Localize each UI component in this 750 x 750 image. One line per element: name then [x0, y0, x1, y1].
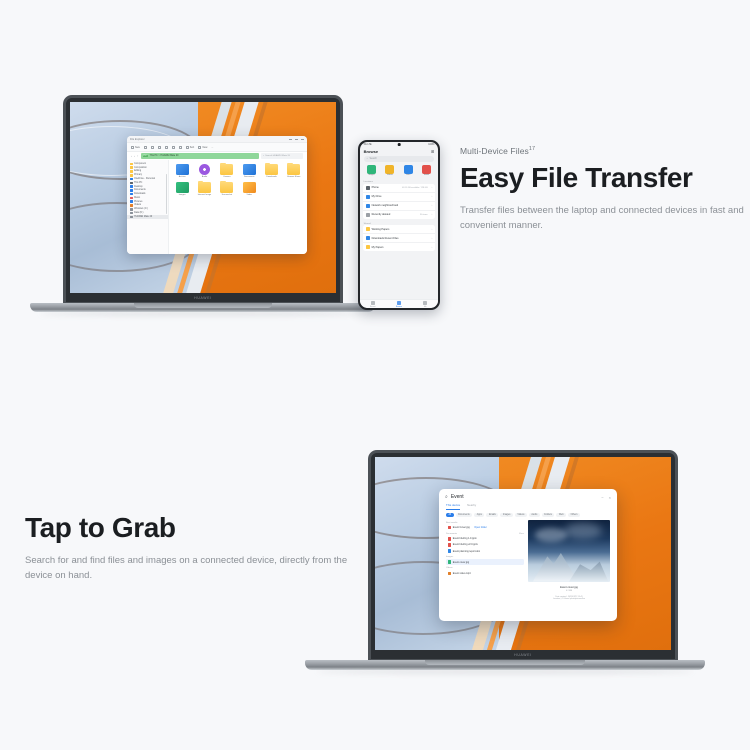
laptop-shadow-2	[317, 669, 693, 674]
address-chip: PC	[143, 155, 148, 157]
explorer-search-input[interactable]: ⌕ Search HUAWEI Mate 20	[261, 153, 303, 159]
result-file-icon	[448, 537, 451, 541]
green-pic-icon	[176, 182, 189, 193]
sidebar-scrollbar[interactable]	[166, 174, 167, 214]
file-grid: ArchiveAudioCameraDocumentsDownloadsHuaw…	[172, 164, 304, 196]
search-filter-chip[interactable]: Documents	[456, 513, 473, 517]
phone-category-row[interactable]: ImagesVideosDocsAudio	[360, 165, 439, 180]
phone-category[interactable]: Videos	[382, 165, 398, 177]
sidebar-item-icon	[130, 182, 133, 185]
phone-bottom-nav[interactable]: RecentBrowseMe	[360, 299, 439, 308]
text-block-tap-to-grab: Tap to Grab Search for and find files an…	[25, 512, 365, 584]
sidebar-item-label: Composition	[134, 167, 147, 169]
blue-doc-icon	[243, 164, 256, 175]
toolbar-view-button[interactable]: View	[198, 146, 207, 149]
sidebar-item-label: Downloads	[134, 193, 145, 195]
search-query-input[interactable]: Event	[451, 494, 464, 500]
explorer-address-row[interactable]: ‹ › ↑ PC This PC > HUAWEI Mate 20 ⌕ Sear…	[127, 152, 307, 160]
file-grid-item[interactable]: Huawei Share	[284, 164, 304, 178]
close-icon[interactable]	[301, 139, 304, 140]
global-search-window[interactable]: ⌕ Event − × This deviceNearby AllDocumen…	[439, 489, 617, 621]
sidebar-item-label: Data (D:)	[134, 212, 143, 214]
search-result-item[interactable]: Event cover.jpg	[446, 559, 524, 565]
search-group-title: Documents	[446, 533, 457, 535]
brand-text: HUAWEI	[514, 653, 532, 657]
category-label: Docs	[406, 174, 410, 176]
search-icon: ⌕	[367, 157, 368, 160]
category-label: Images	[368, 174, 374, 176]
window-titlebar[interactable]: File Explorer	[127, 136, 307, 143]
nav-item-icon	[397, 301, 401, 305]
search-filter-chip[interactable]: Images	[500, 513, 513, 517]
result-file-icon	[448, 572, 451, 576]
phone-list-item[interactable]: Phone48.13 GB available / 128 GB›	[363, 184, 436, 193]
list-item-icon	[366, 204, 370, 208]
folder-icon	[198, 182, 211, 193]
phone-list-item[interactable]: My Papers›	[363, 243, 436, 251]
sidebar-item-icon	[130, 178, 133, 181]
sidebar-item-icon	[130, 216, 133, 219]
close-icon[interactable]: ×	[609, 495, 611, 500]
explorer-content: ArchiveAudioCameraDocumentsDownloadsHuaw…	[169, 160, 307, 254]
cloud-shape	[535, 528, 568, 542]
list-item-icon	[366, 213, 370, 217]
search-result-item[interactable]: Event briefing 1.0.pptx	[446, 536, 524, 542]
laptop-device-2: ⌕ Event − × This deviceNearby AllDocumen…	[305, 450, 705, 675]
phone-header: Browse ⊞	[360, 148, 439, 156]
toolbar-label: View	[202, 146, 207, 149]
search-group-header: Videos	[446, 567, 524, 569]
sidebar-item-icon	[130, 197, 133, 200]
sidebar-item-label: Editing	[134, 170, 141, 172]
phone-screen: 5G LTE 100% Browse ⊞ ⌕ Search ImagesVide…	[360, 142, 439, 309]
preview-image	[528, 520, 610, 582]
sidebar-item-label: Desktop	[134, 186, 142, 188]
folder-icon	[287, 164, 300, 175]
sidebar-item-icon	[130, 200, 133, 203]
sidebar-item-label: HUAWEI Mate 20	[134, 216, 152, 218]
body-text-1: Transfer files between the laptop and co…	[460, 204, 745, 233]
phone-search-input[interactable]: ⌕ Search	[364, 156, 435, 162]
search-icon: ⌕	[263, 155, 264, 157]
mountain-shape	[533, 553, 578, 582]
file-grid-item-label: Audio	[202, 176, 207, 178]
search-tab[interactable]: This device	[446, 503, 460, 510]
phone-nav-item[interactable]: Me	[412, 300, 438, 308]
list-item-label: Downloads Recent Files	[372, 237, 399, 240]
result-file-icon	[448, 549, 451, 553]
search-result-item[interactable]: Event Cover.jpgOpen folder	[446, 525, 524, 531]
laptop-brand-logo-1: HUAWEI	[66, 293, 340, 302]
sidebar-item-icon	[130, 204, 133, 207]
grid-view-icon[interactable]: ⊞	[431, 149, 434, 154]
toolbar-label: ...	[211, 146, 213, 149]
sidebar-item-label: Videos	[134, 204, 141, 206]
list-item-label: Recently deleted	[372, 213, 391, 216]
preview-metadata: Date created : 2021/07/22 15:41 Location…	[553, 596, 585, 602]
phone-nav-item[interactable]: Recent	[360, 300, 386, 308]
mountain-shape	[569, 560, 608, 581]
eyebrow-text: Multi-Device Files	[460, 146, 529, 156]
search-group-more-link[interactable]: More	[519, 533, 524, 535]
open-folder-link[interactable]: Open folder	[474, 526, 487, 529]
plus-icon	[131, 146, 134, 149]
nav-item-label: Browse	[396, 306, 402, 308]
file-grid-item[interactable]: Camera	[217, 164, 237, 178]
view-icon	[198, 146, 201, 149]
orange-play-icon	[243, 182, 256, 193]
forward-icon[interactable]: ›	[134, 154, 135, 158]
search-group-header: Images	[446, 556, 524, 558]
sidebar-item-icon	[130, 212, 133, 215]
sidebar-item-label: This PC	[134, 182, 142, 184]
search-group-title: Images	[446, 556, 453, 558]
result-file-icon	[448, 543, 451, 547]
search-preview-pane: Event cover.jpg 4.2 MB Date created : 20…	[528, 520, 610, 602]
phone-category[interactable]: Images	[364, 165, 380, 177]
chevron-right-icon: ›	[432, 246, 433, 249]
search-group-header: Best results	[446, 522, 524, 524]
file-grid-item[interactable]: Internet Image	[194, 182, 214, 196]
chevron-right-icon: ›	[432, 237, 433, 240]
phone-locations-card[interactable]: Phone48.13 GB available / 128 GB›My Driv…	[363, 184, 436, 219]
phone-device: 5G LTE 100% Browse ⊞ ⌕ Search ImagesVide…	[358, 140, 440, 310]
toolbar-copy-icon[interactable]	[151, 146, 154, 149]
preview-filesize: 4.2 MB	[566, 590, 572, 592]
category-label: Videos	[387, 174, 393, 176]
chevron-right-icon: ›	[432, 228, 433, 231]
text-block-easy-file-transfer: Multi-Device Files17 Easy File Transfer …	[460, 146, 750, 234]
maximize-icon[interactable]	[295, 139, 298, 140]
search-filter-chip[interactable]: Folders	[542, 513, 555, 517]
toolbar-paste-icon[interactable]	[158, 146, 161, 149]
sidebar-item-icon	[130, 185, 133, 188]
sidebar-item-label: Documents	[134, 189, 146, 191]
result-file-name: Event video.mp4	[453, 572, 471, 575]
sidebar-item-icon	[130, 174, 133, 177]
category-icon	[404, 165, 413, 174]
result-file-name: Event Cover.jpg	[453, 526, 470, 529]
search-window-header[interactable]: ⌕ Event − ×	[439, 489, 617, 503]
list-item-icon	[366, 227, 370, 231]
list-item-icon	[366, 245, 370, 249]
minimize-icon[interactable]: −	[601, 495, 603, 500]
file-explorer-window[interactable]: File Explorer New	[127, 136, 307, 254]
nav-item-icon	[423, 301, 427, 305]
list-item-label: Network neighbourhood	[372, 204, 399, 207]
search-results-list[interactable]: Best resultsEvent Cover.jpgOpen folderDo…	[446, 520, 524, 602]
minimize-icon[interactable]	[289, 139, 292, 140]
result-file-name: Event briefing v2.0.pptx	[453, 543, 478, 546]
search-placeholder: Search HUAWEI Mate 20	[265, 155, 290, 157]
blue-doc-icon	[176, 164, 189, 175]
sidebar-item-label: Primary	[134, 174, 142, 176]
list-item-icon	[366, 186, 370, 190]
file-grid-item-label: Images	[179, 194, 186, 196]
preview-meta-line-2: Location | C:\Users\ photo\pictures\hw	[553, 598, 585, 601]
eyebrow-label-1: Multi-Device Files17	[460, 146, 750, 156]
search-filter-chip[interactable]: Emails	[486, 513, 498, 517]
phone-category[interactable]: Audio	[419, 165, 435, 177]
chevron-right-icon: ›	[432, 195, 433, 198]
explorer-sidebar[interactable]: ComponentCompositionEditingPrimaryOneDri…	[127, 160, 169, 254]
address-path: This PC > HUAWEI Mate 20	[150, 155, 179, 157]
phone-page-title: Browse	[364, 149, 378, 154]
file-grid-item-label: Internet Image	[198, 194, 211, 196]
purple-disc-icon	[199, 164, 210, 175]
search-group-header: DocumentsMore	[446, 533, 524, 535]
up-icon[interactable]: ↑	[137, 154, 139, 158]
file-grid-item[interactable]: Screenshot	[217, 182, 237, 196]
file-grid-item-label: Archive	[179, 176, 186, 178]
category-icon	[385, 165, 394, 174]
file-grid-item-label: Video	[247, 194, 252, 196]
laptop-lid-1: File Explorer New	[63, 95, 343, 305]
nav-arrows[interactable]: ‹ › ↑	[131, 154, 139, 158]
headline-2: Tap to Grab	[25, 512, 365, 543]
list-item-label: Phone	[372, 186, 379, 189]
category-icon	[422, 165, 431, 174]
sidebar-item-icon	[130, 163, 133, 166]
search-icon: ⌕	[445, 494, 448, 500]
search-result-item[interactable]: Event planning report.doc	[446, 548, 524, 554]
toolbar-share-icon[interactable]	[172, 146, 175, 149]
preview-filename: Event cover.jpg	[560, 586, 578, 589]
sidebar-item-label: Component	[134, 163, 146, 165]
list-item-label: Working Papers	[372, 228, 390, 231]
list-item-label: My Drive	[372, 195, 382, 198]
result-file-name: Event cover.jpg	[453, 561, 469, 564]
sort-icon	[186, 146, 189, 149]
search-filter-chip[interactable]: Videos	[515, 513, 527, 517]
file-grid-item[interactable]: Downloads	[261, 164, 281, 178]
nav-item-label: Recent	[370, 306, 376, 308]
sidebar-item-label: Pictures	[134, 201, 142, 203]
search-placeholder: Search	[369, 157, 377, 160]
file-grid-item-label: Screenshot	[222, 194, 233, 196]
file-grid-item[interactable]: Documents	[239, 164, 259, 178]
chevron-right-icon: ›	[432, 213, 433, 216]
search-group-title: Videos	[446, 567, 453, 569]
sidebar-item-icon	[130, 189, 133, 192]
result-file-name: Event briefing 1.0.pptx	[453, 537, 477, 540]
cloud-shape	[564, 523, 602, 539]
search-result-item[interactable]: Event video.mp4	[446, 570, 524, 576]
phone-list-item[interactable]: Network neighbourhood›	[363, 202, 436, 211]
laptop-device-1: File Explorer New	[30, 95, 375, 315]
body-text-2: Search for and find files and images on …	[25, 554, 355, 583]
sidebar-item-label: Windows (C:)	[134, 208, 148, 210]
phone-camera-notch	[398, 143, 401, 146]
explorer-body: ComponentCompositionEditingPrimaryOneDri…	[127, 160, 307, 254]
result-file-icon	[448, 526, 451, 530]
nav-item-icon	[371, 301, 375, 305]
file-grid-item-label: Downloads	[266, 176, 276, 178]
toolbar-delete-icon[interactable]	[179, 146, 182, 149]
toolbar-more-button[interactable]: ...	[211, 146, 213, 149]
window-controls[interactable]	[289, 139, 304, 140]
result-file-icon	[448, 560, 451, 564]
file-grid-item[interactable]: Images	[172, 182, 192, 196]
search-results-body: Best resultsEvent Cover.jpgOpen folderDo…	[439, 520, 617, 608]
result-file-name: Event planning report.doc	[453, 550, 480, 553]
chevron-right-icon: ›	[432, 204, 433, 207]
file-grid-item[interactable]: Video	[239, 182, 259, 196]
search-filter-chip[interactable]: Others	[568, 513, 580, 517]
back-icon[interactable]: ‹	[131, 154, 132, 158]
sidebar-item-label: OneDrive - Personal	[134, 178, 155, 180]
phone-shared-card[interactable]: Working Papers›Downloads Recent Files›My…	[363, 225, 436, 251]
toolbar-rename-icon[interactable]	[165, 146, 168, 149]
sidebar-item-icon	[130, 170, 133, 173]
search-group-title: Best results	[446, 522, 457, 524]
search-filter-chip[interactable]: All	[446, 513, 454, 517]
laptop-shadow-1	[40, 311, 365, 316]
file-grid-item-label: Documents	[244, 176, 255, 178]
search-filter-chip[interactable]: Audio	[529, 513, 540, 517]
laptop-brand-logo-2: HUAWEI	[371, 650, 675, 659]
laptop-screen-1: File Explorer New	[70, 102, 336, 293]
phone-category[interactable]: Docs	[400, 165, 416, 177]
search-filter-chip[interactable]: Web	[556, 513, 566, 517]
folder-icon	[265, 164, 278, 175]
folder-icon	[220, 182, 233, 193]
status-battery: 100%	[428, 143, 434, 146]
nav-item-label: Me	[424, 306, 427, 308]
list-item-meta: 30 items	[420, 214, 428, 216]
list-item-label: My Papers	[372, 246, 384, 249]
brand-text: HUAWEI	[194, 296, 212, 300]
search-window-controls[interactable]: − ×	[601, 495, 611, 500]
toolbar-label: New	[135, 146, 140, 149]
window-title: File Explorer	[130, 138, 145, 141]
page-root: File Explorer New	[0, 0, 750, 750]
search-filter-chip[interactable]: Apps	[474, 513, 484, 517]
search-filter-chips[interactable]: AllDocumentsAppsEmailsImagesVideosAudioF…	[439, 510, 617, 520]
chevron-right-icon: ›	[432, 186, 433, 189]
sidebar-item-icon	[130, 208, 133, 211]
toolbar-cut-icon[interactable]	[144, 146, 147, 149]
phone-list-item[interactable]: Working Papers›	[363, 225, 436, 234]
list-item-meta: 48.13 GB available / 128 GB	[402, 187, 427, 189]
sidebar-item[interactable]: HUAWEI Mate 20	[127, 215, 168, 219]
list-item-icon	[366, 236, 370, 240]
laptop-lid-2: ⌕ Event − × This deviceNearby AllDocumen…	[368, 450, 678, 662]
sidebar-item-icon	[130, 166, 133, 169]
file-grid-item-label: Camera	[223, 176, 230, 178]
file-grid-item[interactable]: Archive	[172, 164, 192, 178]
list-item-icon	[366, 195, 370, 199]
eyebrow-superscript: 17	[529, 146, 535, 152]
toolbar-new-button[interactable]: New	[131, 146, 140, 149]
headline-1: Easy File Transfer	[460, 162, 750, 193]
sidebar-item-label: Music	[134, 197, 140, 199]
toolbar-label: Sort	[190, 146, 194, 149]
folder-icon	[220, 164, 233, 175]
toolbar-sort-button[interactable]: Sort	[186, 146, 194, 149]
file-grid-item-label: Huawei Share	[287, 176, 300, 178]
phone-list-item[interactable]: My Drive›	[363, 193, 436, 202]
category-label: Audio	[424, 174, 429, 176]
file-grid-item[interactable]: Audio	[194, 164, 214, 178]
phone-list-item[interactable]: Recently deleted30 items›	[363, 211, 436, 219]
phone-nav-item[interactable]: Browse	[386, 300, 412, 308]
status-carrier: 5G LTE	[364, 143, 372, 146]
laptop-screen-2: ⌕ Event − × This deviceNearby AllDocumen…	[375, 457, 671, 650]
address-bar[interactable]: PC This PC > HUAWEI Mate 20	[141, 153, 260, 159]
search-tab[interactable]: Nearby	[467, 503, 476, 510]
phone-list-item[interactable]: Downloads Recent Files›	[363, 234, 436, 243]
explorer-toolbar[interactable]: New Sort View ...	[127, 143, 307, 152]
category-icon	[367, 165, 376, 174]
